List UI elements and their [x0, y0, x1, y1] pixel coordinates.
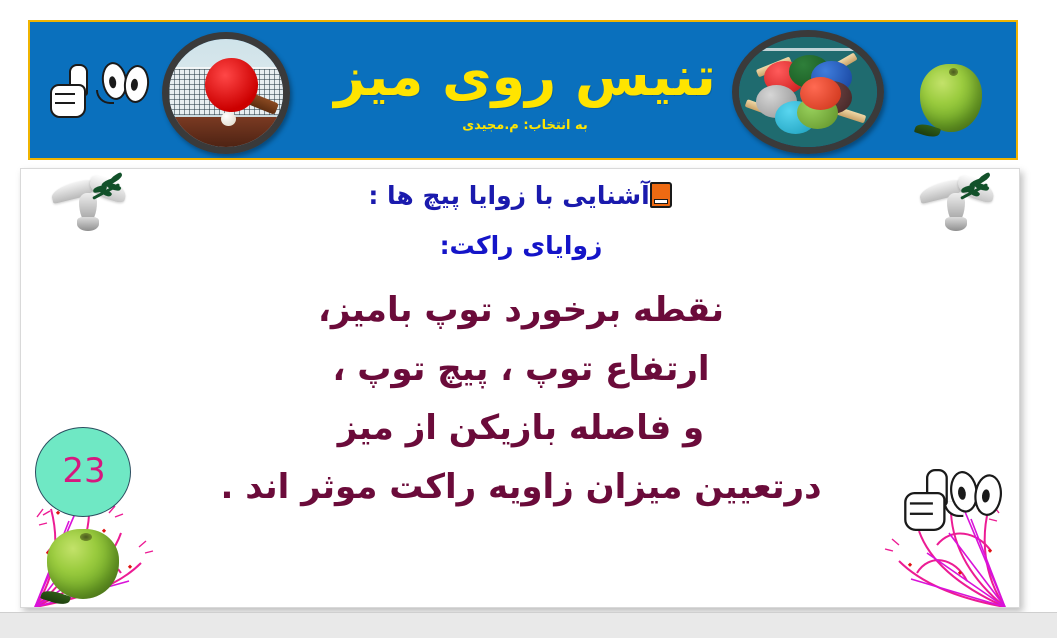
pupil	[957, 486, 966, 500]
thumbs-up-icon	[902, 469, 950, 531]
thumb-crease	[910, 513, 933, 515]
section-heading-text: آشنایی با زوایا پیچ ها :	[368, 181, 649, 210]
photo-rail	[750, 48, 866, 51]
eye-right	[972, 473, 1004, 517]
body-text-block: نقطه برخورد توپ بامیز، ارتفاع توپ ، پیچ …	[21, 281, 1020, 517]
thumb-palm	[904, 492, 945, 531]
content-panel: آشنایی با زوایا پیچ ها : زوایای راکت: نق…	[20, 168, 1020, 608]
photo-content	[739, 37, 877, 147]
page-number-text: 23	[36, 451, 132, 491]
paddle-orange	[800, 77, 841, 110]
orange-book-icon	[650, 182, 672, 208]
section-subheading: زوایای راکت:	[21, 231, 1020, 260]
dove-tail	[77, 217, 99, 231]
body-line: ارتفاع توپ ، پیچ توپ ،	[21, 340, 1020, 399]
body-line: و فاصله بازیکن از میز	[21, 399, 1020, 458]
section-heading: آشنایی با زوایا پیچ ها :	[21, 181, 1020, 210]
slide-root: تنیس روی میز به انتخاب: م.مجیدی	[0, 0, 1057, 637]
dove-tail	[945, 217, 967, 231]
pupil	[981, 489, 990, 503]
green-apple-image	[47, 529, 119, 599]
apple-leaf	[914, 122, 941, 140]
thumb-crease	[910, 502, 933, 504]
green-apple-image	[920, 64, 982, 132]
bottom-status-strip	[0, 612, 1057, 638]
cartoon-eyes-icon	[950, 469, 1012, 520]
header-banner: تنیس روی میز به انتخاب: م.مجیدی	[28, 20, 1018, 160]
page-number-badge: 23	[35, 427, 131, 517]
apple-stem-dimple	[949, 68, 959, 75]
apple-stem-dimple	[80, 533, 92, 541]
body-line: نقطه برخورد توپ بامیز،	[21, 281, 1020, 340]
colorful-paddles-photo	[732, 30, 884, 154]
